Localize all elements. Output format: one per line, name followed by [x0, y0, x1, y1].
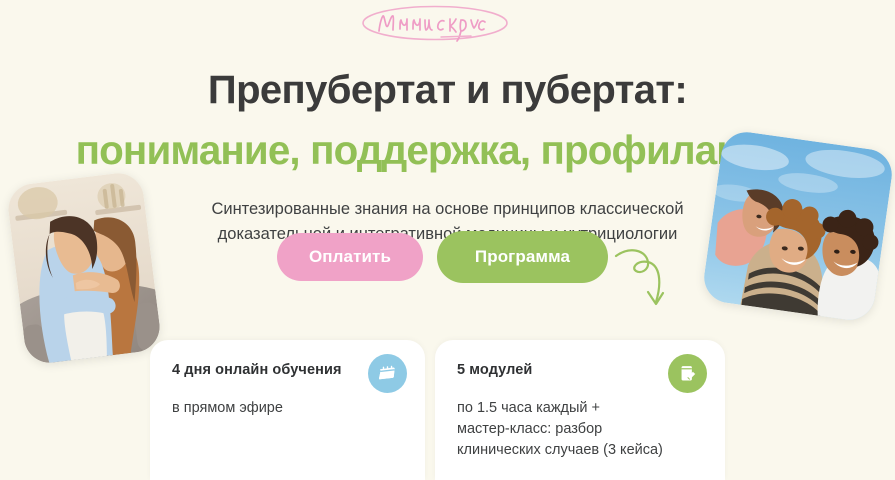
info-card-days-body: в прямом эфире: [172, 398, 407, 419]
mini-course-badge: [355, 2, 515, 46]
ellipse-scribble-icon: [355, 2, 515, 46]
notepad-pencil-icon-glyph: [677, 363, 698, 384]
photo-mother-daughter-image: [6, 170, 163, 365]
program-button[interactable]: Программа: [437, 231, 608, 283]
curved-arrow-decoration: [608, 236, 698, 326]
info-card-modules: 5 модулей по 1.5 часа каждый +мастер-кла…: [435, 340, 725, 480]
info-card-modules-body: по 1.5 часа каждый +мастер-класс: разбор…: [457, 398, 707, 461]
calendar-icon: [368, 354, 407, 393]
page-title-line1: Препубертат и пубертат:: [0, 67, 895, 113]
photo-teens-sky: [701, 129, 895, 323]
photo-mother-daughter: [6, 170, 163, 365]
info-card-days: 4 дня онлайн обучения в прямом эфире: [150, 340, 425, 480]
info-card-days-title: 4 дня онлайн обучения: [172, 362, 342, 378]
notepad-pencil-icon: [668, 354, 707, 393]
calendar-icon-glyph: [377, 363, 398, 384]
info-card-modules-title: 5 модулей: [457, 362, 532, 378]
curved-arrow-down-icon: [608, 236, 698, 326]
landing-hero: Препубертат и пубертат: понимание, подде…: [0, 0, 895, 480]
pay-button[interactable]: Оплатить: [277, 233, 423, 281]
photo-teens-sky-image: [701, 129, 895, 323]
